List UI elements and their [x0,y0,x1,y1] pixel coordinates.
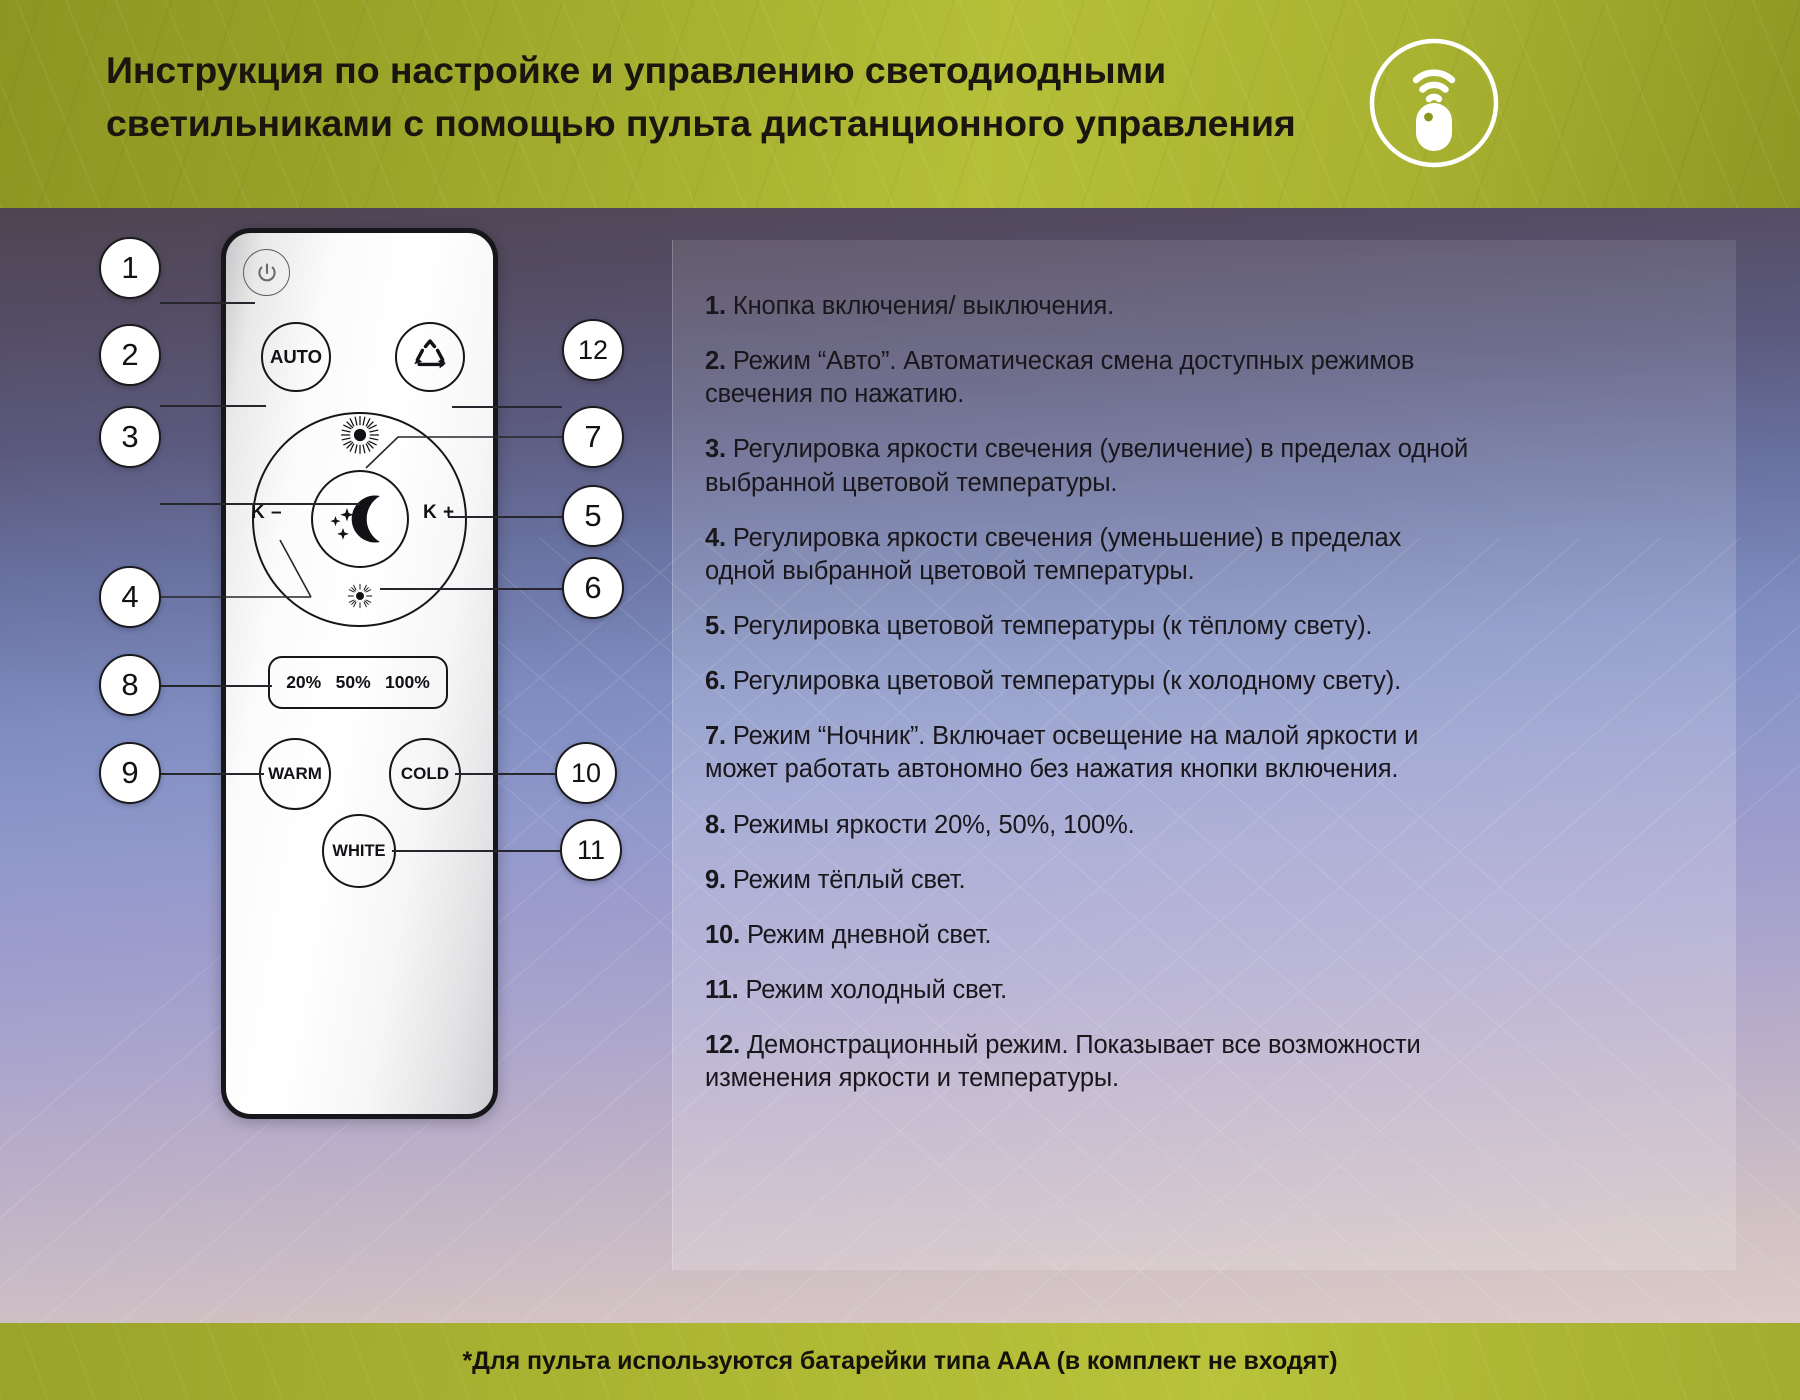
callout-label: 7 [584,419,601,455]
leader-line-3 [160,503,360,505]
brightness-20-button[interactable]: 20% [286,672,321,693]
item-number: 5. [705,612,726,640]
callout-3[interactable]: 3 [99,406,161,468]
callout-label: 8 [121,667,138,703]
power-icon [254,260,280,286]
recycle-loop-icon [407,334,453,380]
callout-5[interactable]: 5 [562,485,624,547]
item-number: 6. [705,667,726,695]
instructions-list: 1. Кнопка включения/ выключения. 2. Режи… [705,290,1475,1117]
callout-12[interactable]: 12 [562,319,624,381]
callout-8[interactable]: 8 [99,654,161,716]
sun-bright-icon [340,415,380,455]
leader-line-10 [455,773,555,775]
footer-banner: *Для пульта используются батарейки типа … [0,1323,1800,1400]
callout-10[interactable]: 10 [555,742,617,804]
leader-line-6 [380,588,562,590]
temperature-up-label[interactable]: K + [423,502,455,524]
page-title-line2: светильниками с помощью пульта дистанцио… [106,102,1296,144]
item-number: 2. [705,347,726,375]
leader-line-8 [160,685,272,687]
callout-label: 5 [584,498,601,534]
item-text: Регулировка яркости свечения (уменьшение… [705,524,1401,585]
leader-line-12 [452,406,562,408]
brightness-100-button[interactable]: 100% [385,672,430,693]
brightness-down-button[interactable] [347,583,373,609]
leader-line-9 [160,773,264,775]
list-item: 6. Регулировка цветовой температуры (к х… [705,665,1475,698]
item-number: 7. [705,722,726,750]
callout-9[interactable]: 9 [99,742,161,804]
brightness-preset-bar[interactable]: 20% 50% 100% [268,656,448,709]
auto-button-label: AUTO [270,346,322,368]
item-number: 8. [705,811,726,839]
callout-label: 2 [121,337,138,373]
item-text: Демонстрационный режим. Показывает все в… [705,1031,1421,1092]
item-text: Регулировка яркости свечения (увеличение… [705,435,1468,496]
list-item: 9. Режим тёплый свет. [705,864,1475,897]
instruction-poster: Инструкция по настройке и управлению све… [0,0,1800,1400]
callout-4[interactable]: 4 [99,566,161,628]
list-item: 3. Регулировка яркости свечения (увеличе… [705,433,1475,499]
callout-7[interactable]: 7 [562,406,624,468]
list-item: 10. Режим дневной свет. [705,919,1475,952]
callout-label: 10 [571,758,601,789]
callout-label: 1 [121,250,138,286]
item-number: 4. [705,524,726,552]
callout-6[interactable]: 6 [562,557,624,619]
item-text: Режим тёплый свет. [733,866,966,894]
callout-label: 3 [121,419,138,455]
item-number: 3. [705,435,726,463]
item-text: Кнопка включения/ выключения. [733,292,1114,320]
item-number: 10. [705,921,740,949]
list-item: 7. Режим “Ночник”. Включает освещение на… [705,720,1475,786]
item-number: 9. [705,866,726,894]
callout-2[interactable]: 2 [99,324,161,386]
item-number: 1. [705,292,726,320]
callout-label: 6 [584,570,601,606]
list-item: 5. Регулировка цветовой температуры (к т… [705,610,1475,643]
leader-line-1 [160,302,255,304]
battery-note: *Для пульта используются батарейки типа … [463,1347,1338,1376]
header-banner: Инструкция по настройке и управлению све… [0,0,1800,208]
item-text: Режимы яркости 20%, 50%, 100%. [733,811,1135,839]
white-light-button[interactable]: WHITE [322,814,396,888]
callout-11[interactable]: 11 [560,819,622,881]
demo-mode-button[interactable] [395,322,465,392]
item-text: Режим “Авто”. Автоматическая смена досту… [705,347,1414,408]
leader-line-5 [448,516,562,518]
list-item: 1. Кнопка включения/ выключения. [705,290,1475,323]
list-item: 11. Режим холодный свет. [705,974,1475,1007]
moon-stars-icon [322,488,398,550]
item-text: Режим “Ночник”. Включает освещение на ма… [705,722,1418,783]
white-button-label: WHITE [332,842,385,861]
callout-label: 11 [577,835,605,866]
temperature-down-label[interactable]: K – [251,502,282,524]
list-item: 2. Режим “Авто”. Автоматическая смена до… [705,345,1475,411]
cold-light-button[interactable]: COLD [389,738,461,810]
item-number: 11. [705,976,739,1004]
callout-1[interactable]: 1 [99,237,161,299]
list-item: 12. Демонстрационный режим. Показывает в… [705,1029,1475,1095]
item-number: 12. [705,1031,740,1059]
callout-label: 12 [578,335,608,366]
item-text: Режим дневной свет. [747,921,991,949]
power-button[interactable] [243,249,290,296]
leader-line-11 [392,850,560,852]
list-item: 4. Регулировка яркости свечения (уменьше… [705,522,1475,588]
warm-light-button[interactable]: WARM [259,738,331,810]
brightness-50-button[interactable]: 50% [336,672,371,693]
warm-button-label: WARM [268,764,322,784]
night-mode-button[interactable] [311,470,409,568]
sun-dim-icon [347,583,373,609]
cold-button-label: COLD [401,764,449,784]
callout-label: 4 [121,579,138,615]
item-text: Регулировка цветовой температуры (к холо… [733,667,1401,695]
item-text: Режим холодный свет. [746,976,1007,1004]
remote-control-signal-icon [1358,27,1510,179]
list-item: 8. Режимы яркости 20%, 50%, 100%. [705,809,1475,842]
item-text: Регулировка цветовой температуры (к тёпл… [733,612,1372,640]
page-title-line1: Инструкция по настройке и управлению све… [106,49,1166,91]
leader-line-2 [160,405,266,407]
brightness-up-button[interactable] [340,415,380,455]
page-title: Инструкция по настройке и управлению све… [106,44,1506,151]
auto-mode-button[interactable]: AUTO [261,322,331,392]
callout-label: 9 [121,755,138,791]
